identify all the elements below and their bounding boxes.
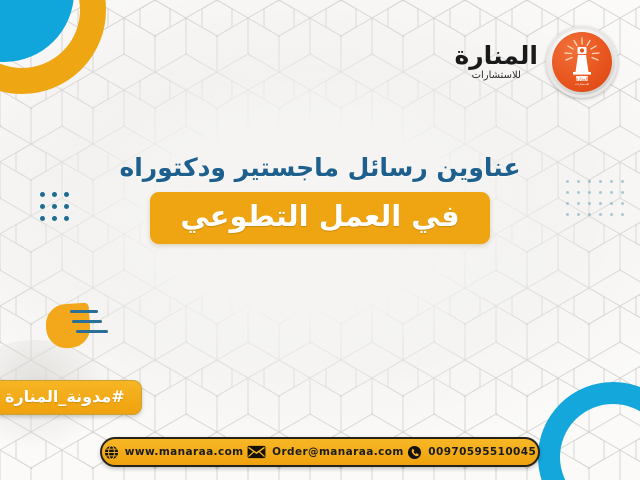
contact-website-text: www.manaraa.com: [125, 446, 244, 458]
envelope-icon: [247, 445, 266, 459]
contact-email-text: Order@manaraa.com: [272, 446, 404, 458]
brand-tagline: للاستشارات: [472, 71, 521, 81]
poster-canvas: المنارة للاستشارات المنارة للاستشارات عن…: [0, 0, 640, 480]
contact-email[interactable]: Order@manaraa.com: [247, 445, 404, 459]
leaf-lines-icon: [70, 310, 108, 340]
bottom-right-cyan-ring: [538, 382, 640, 480]
headline-highlight-box: في العمل التطوعي: [150, 192, 489, 244]
phone-icon: [407, 445, 422, 460]
brand-wordmark: المنارة للاستشارات: [455, 43, 538, 81]
brand-name: المنارة: [455, 43, 538, 68]
headline-line-1: عناوين رسائل ماجستير ودكتوراه: [0, 152, 640, 183]
hashtag-pill[interactable]: #مدونة_المنارة: [0, 380, 142, 415]
brand-logo[interactable]: المنارة للاستشارات المنارة للاستشارات: [455, 26, 618, 98]
headline-line-2: في العمل التطوعي: [180, 199, 459, 234]
contact-bar: www.manaraa.com Order@manaraa.com 009705…: [100, 437, 540, 467]
lighthouse-emblem: المنارة للاستشارات: [546, 26, 618, 98]
contact-phone[interactable]: 00970595510045: [407, 445, 536, 460]
svg-text:للاستشارات: للاستشارات: [575, 82, 589, 86]
leaf-accent-badge: [46, 300, 118, 352]
globe-icon: [104, 445, 119, 460]
contact-website[interactable]: www.manaraa.com: [104, 445, 244, 460]
hashtag-label: #مدونة_المنارة: [5, 387, 125, 406]
contact-phone-text: 00970595510045: [428, 446, 536, 458]
lighthouse-icon: المنارة للاستشارات: [554, 34, 610, 90]
headline-block: عناوين رسائل ماجستير ودكتوراه في العمل ا…: [0, 152, 640, 244]
